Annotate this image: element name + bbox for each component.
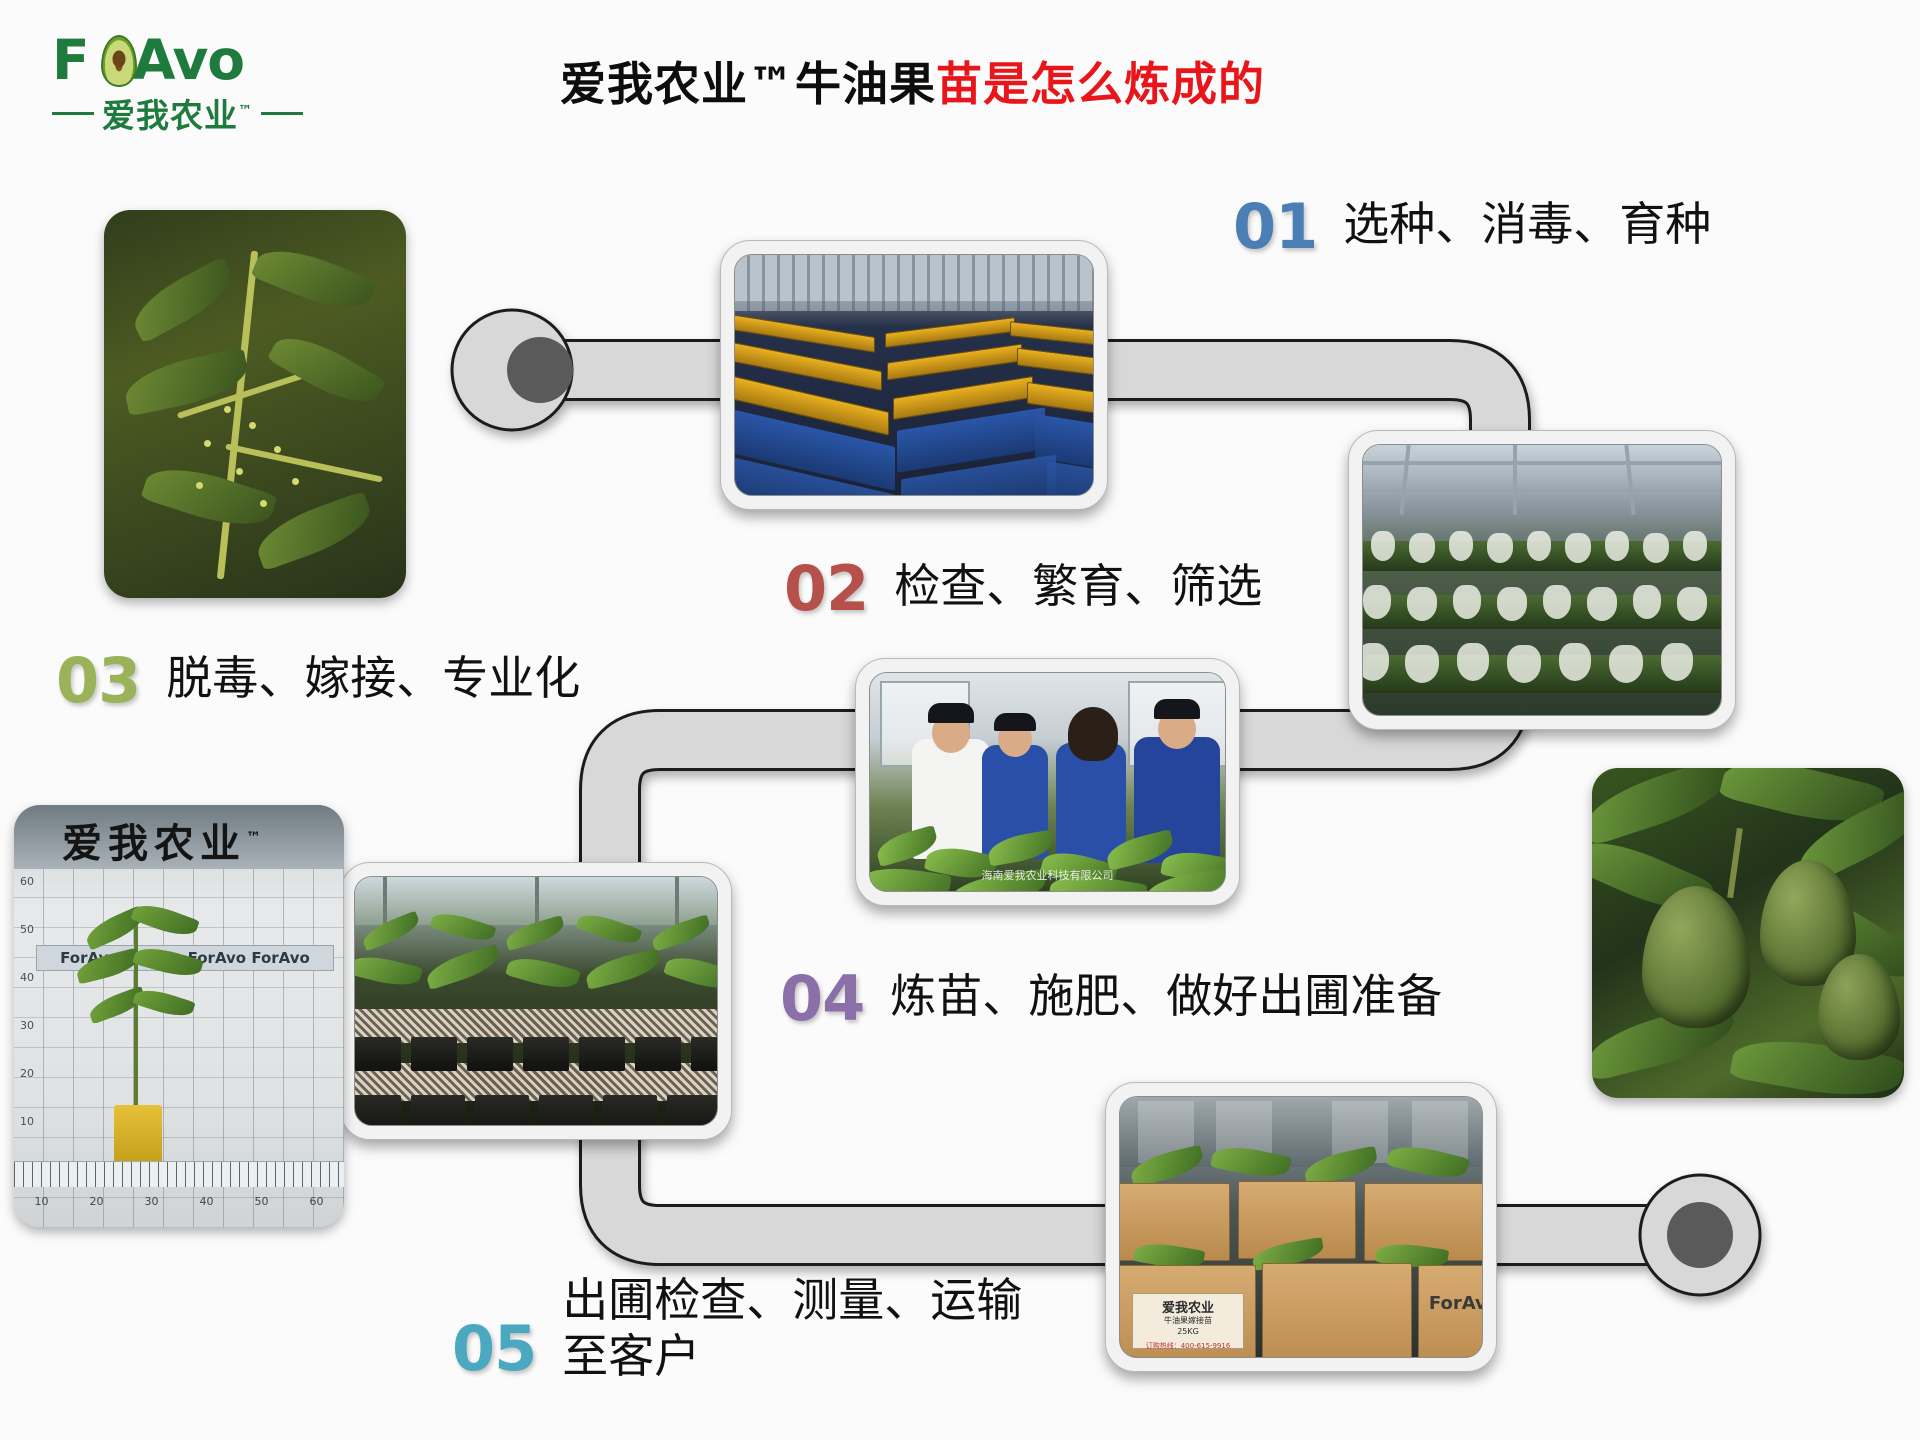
photo-ruler-measurement-art: 爱我农业™ 60 50 40 30 20 10 ForAvo ForAvo Fo… — [14, 805, 344, 1227]
ruler-tick-40: 40 — [20, 971, 34, 984]
step-label-03: 03 脱毒、嫁接、专业化 — [56, 650, 580, 712]
photo-flowering-branch-art — [104, 210, 406, 598]
step-01-text: 选种、消毒、育种 — [1343, 196, 1711, 252]
photo-fruit-on-tree — [1592, 768, 1904, 1098]
photo-card-team-inspection: 海南爱我农业科技有限公司 — [855, 658, 1240, 906]
ruler-bottom-tick-10: 10 — [35, 1195, 49, 1217]
step-04-text: 炼苗、施肥、做好出圃准备 — [890, 968, 1442, 1024]
step-03-text: 脱毒、嫁接、专业化 — [166, 650, 580, 706]
ruler-brand-text: 爱我农业 — [62, 821, 246, 867]
ruler-tick-20: 20 — [20, 1067, 34, 1080]
photo-team-inspection-art: 海南爱我农业科技有限公司 — [870, 673, 1225, 891]
photo-shipping-boxes: 爱我农业 牛油果嫁接苗 25KG 订购热线：400-615-9916 ForAv… — [1119, 1096, 1483, 1358]
ruler-bottom-tick-40: 40 — [200, 1195, 214, 1217]
photo-watermark: 海南爱我农业科技有限公司 — [982, 867, 1114, 883]
ruler-bottom-tick-30: 30 — [145, 1195, 159, 1217]
ruler-tick-50: 50 — [20, 923, 34, 936]
box-hotline-label: 订购热线：400-615-9916 — [1146, 1341, 1231, 1351]
photo-card-grafted-bags — [1348, 430, 1736, 730]
infographic-canvas: F rAvo 爱我农业™ 爱我农业™牛油果苗是怎么炼成的 — [0, 0, 1920, 1440]
photo-shipping-boxes-art: 爱我农业 牛油果嫁接苗 25KG 订购热线：400-615-9916 ForAv… — [1120, 1097, 1482, 1357]
box-brand-label: 爱我农业 — [1162, 1297, 1214, 1316]
ruler-tm-mark: ™ — [246, 829, 267, 847]
step-label-04: 04 炼苗、施肥、做好出圃准备 — [780, 968, 1442, 1030]
photo-card-nursery-pots — [340, 862, 732, 1140]
step-05-text: 出圃检查、测量、运输 至客户 — [562, 1272, 1022, 1384]
step-02-number: 02 — [784, 558, 868, 620]
photo-fruit-on-tree-art — [1592, 768, 1904, 1098]
photo-grafted-bags-art — [1363, 445, 1721, 715]
step-label-05: 05 出圃检查、测量、运输 至客户 — [452, 1272, 1022, 1380]
step-02-text: 检查、繁育、筛选 — [894, 558, 1262, 614]
step-label-02: 02 检查、繁育、筛选 — [784, 558, 1262, 620]
ruler-tick-10: 10 — [20, 1115, 34, 1128]
photo-seed-trays — [734, 254, 1094, 496]
step-03-number: 03 — [56, 650, 140, 712]
step-label-01: 01 选种、消毒、育种 — [1233, 196, 1711, 258]
ruler-tick-30: 30 — [20, 1019, 34, 1032]
ruler-bottom-tick-50: 50 — [255, 1195, 269, 1217]
photo-card-seed-trays — [720, 240, 1108, 510]
box-weight-label: 25KG — [1177, 1327, 1199, 1336]
step-05-number: 05 — [452, 1318, 536, 1380]
photo-nursery-pots — [354, 876, 718, 1126]
photo-grafted-bags — [1362, 444, 1722, 716]
photo-seed-trays-art — [735, 255, 1093, 495]
ruler-bottom-tick-60: 60 — [310, 1195, 324, 1217]
photo-flowering-branch — [104, 210, 406, 598]
step-01-number: 01 — [1233, 196, 1317, 258]
ruler-brand-label: 爱我农业™ — [62, 811, 267, 869]
photo-team-inspection: 海南爱我农业科技有限公司 — [869, 672, 1226, 892]
photo-nursery-pots-art — [355, 877, 717, 1125]
step-04-number: 04 — [780, 968, 864, 1030]
ruler-bottom-tick-20: 20 — [90, 1195, 104, 1217]
ruler-tick-60: 60 — [20, 875, 34, 888]
photo-card-shipping-boxes: 爱我农业 牛油果嫁接苗 25KG 订购热线：400-615-9916 ForAv… — [1105, 1082, 1497, 1372]
photo-ruler-measurement: 爱我农业™ 60 50 40 30 20 10 ForAvo ForAvo Fo… — [14, 805, 344, 1227]
box-side-brand-label: ForAvo — [1429, 1293, 1483, 1314]
box-product-label: 牛油果嫁接苗 — [1164, 1315, 1212, 1326]
